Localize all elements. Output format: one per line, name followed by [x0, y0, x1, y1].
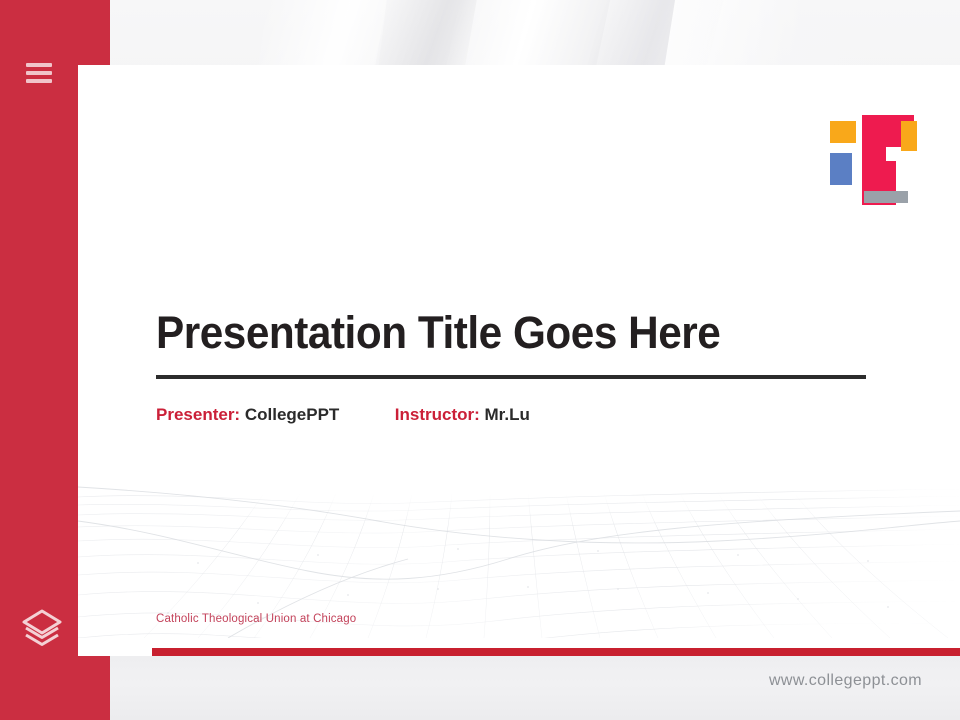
- title-underline-rule: [156, 375, 866, 379]
- instructor-value: Mr.Lu: [485, 405, 530, 424]
- hamburger-bar-3: [26, 79, 52, 83]
- hamburger-menu-icon[interactable]: [26, 60, 56, 86]
- slide-bottom-red-rule: [152, 648, 960, 656]
- presenter-value: CollegePPT: [245, 405, 339, 424]
- layers-stack-icon[interactable]: [18, 603, 66, 651]
- instructor-label: Instructor:: [395, 405, 480, 424]
- logo-orange-square-left: [830, 121, 856, 143]
- presentation-page: Presentation Title Goes Here Presenter: …: [0, 0, 960, 720]
- wireframe-mesh-graphic: [78, 463, 960, 638]
- hamburger-bar-2: [26, 71, 52, 75]
- presenter-label: Presenter:: [156, 405, 240, 424]
- collegeppt-logo-mark: [830, 115, 910, 207]
- logo-gray-bar: [864, 191, 908, 203]
- footer-website-url: www.collegeppt.com: [769, 672, 922, 690]
- hamburger-bar-1: [26, 63, 52, 67]
- byline: Presenter: CollegePPT Instructor: Mr.Lu: [156, 405, 530, 425]
- slide-canvas: Presentation Title Goes Here Presenter: …: [78, 65, 960, 656]
- logo-orange-square-right: [901, 121, 917, 151]
- logo-blue-square: [830, 153, 852, 185]
- organization-name: Catholic Theological Union at Chicago: [156, 613, 356, 625]
- page-title: Presentation Title Goes Here: [156, 310, 829, 355]
